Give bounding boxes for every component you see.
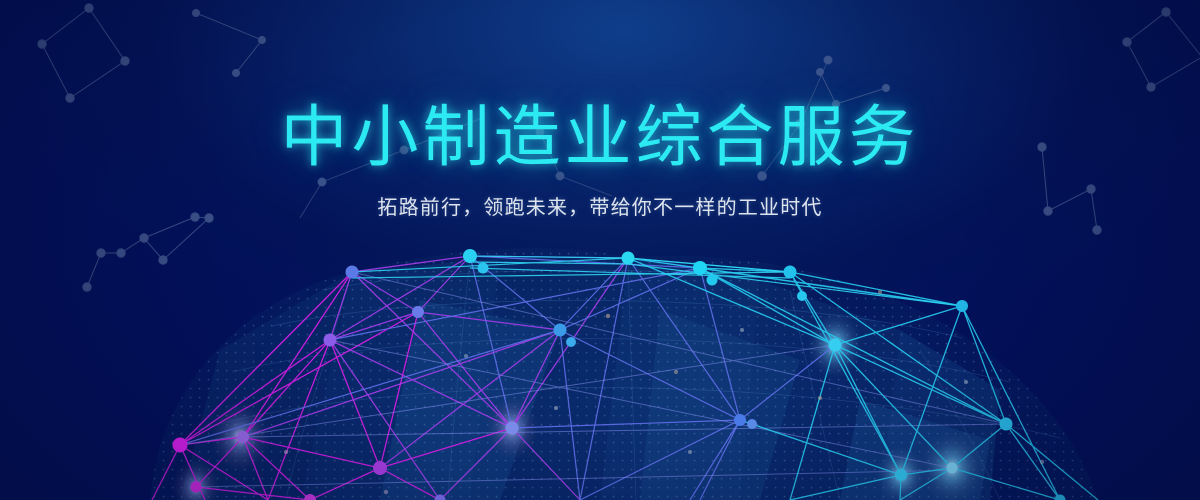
hero-banner: 中小制造业综合服务 拓路前行，领跑未来，带给你不一样的工业时代 <box>0 0 1200 500</box>
page-subtitle: 拓路前行，领跑未来，带给你不一样的工业时代 <box>0 196 1200 220</box>
page-title: 中小制造业综合服务 <box>0 104 1200 171</box>
background-vignette <box>0 0 1200 500</box>
